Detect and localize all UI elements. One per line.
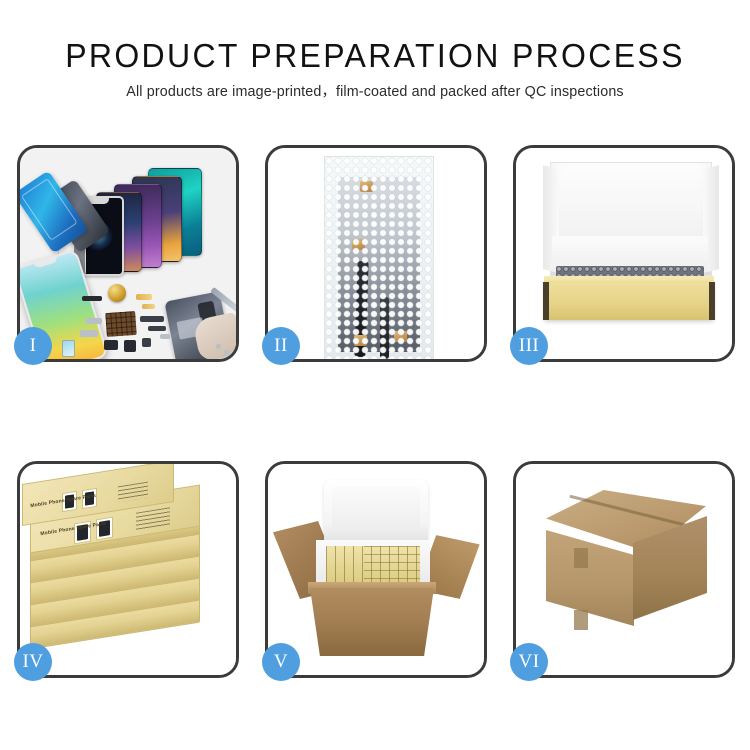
part-button-icon (142, 338, 151, 347)
stacked-boxes: Mobile Phone Spare Parts Mobile Phone Sp… (26, 482, 236, 674)
packed-kraft-boxes (326, 546, 420, 582)
step-panel-3: III (513, 145, 735, 362)
part-screw-plate-icon (160, 334, 170, 339)
step-badge-6: VI (510, 643, 548, 681)
step-panel-4: Mobile Phone Spare Parts Mobile Phone Sp… (17, 461, 239, 678)
part-camera-module-icon (104, 340, 118, 350)
step-panel-5: V (265, 461, 487, 678)
flex-cable-strip-icon (354, 261, 368, 357)
part-flex-cable-icon (140, 316, 164, 322)
part-flex-short-icon (148, 326, 166, 331)
tape-tab-lower-right-icon (394, 331, 407, 342)
product-preparation-process-page: PRODUCT PREPARATION PROCESS All products… (0, 0, 750, 750)
logic-board-chip-icon (105, 311, 137, 337)
speaker-component-icon (108, 284, 126, 302)
step-image-6 (516, 464, 732, 675)
carton-handle-tab-bottom (574, 610, 588, 630)
step-panel-2: II (265, 145, 487, 362)
process-steps-grid: I II (17, 145, 735, 678)
carton-body (310, 588, 434, 656)
step-image-4: Mobile Phone Spare Parts Mobile Phone Sp… (20, 464, 236, 675)
step-badge-2: II (262, 327, 300, 365)
part-shield-icon (80, 330, 98, 337)
step-badge-3: III (510, 327, 548, 365)
step-image-3 (516, 148, 732, 359)
page-subtitle: All products are image-printed，film-coat… (0, 83, 750, 101)
part-gold-clip-icon (142, 304, 155, 309)
part-gold-connector-icon (136, 294, 152, 300)
carton-handle-tab-top (574, 548, 588, 568)
foam-lid (324, 480, 428, 542)
flex-cable-strip-secondary-icon (380, 297, 389, 359)
tape-tab-mid-icon (352, 239, 365, 250)
wrapped-phone-part (338, 177, 420, 352)
phone-parts-illustration (20, 148, 236, 359)
carton-left-face (546, 530, 634, 626)
page-title: PRODUCT PREPARATION PROCESS (11, 36, 739, 76)
step-image-1 (20, 148, 236, 359)
step-image-5 (268, 464, 484, 675)
kraft-box-tray (544, 282, 714, 320)
step-panel-6: VI (513, 461, 735, 678)
tape-tab-lower-left-icon (354, 335, 367, 346)
part-vibrator-icon (124, 340, 136, 352)
tape-tab-top-icon (360, 181, 373, 192)
step-image-2 (268, 148, 484, 359)
header: PRODUCT PREPARATION PROCESS All products… (0, 36, 750, 101)
part-screw-b-icon (224, 350, 229, 355)
step-badge-5: V (262, 643, 300, 681)
part-antenna-icon (82, 296, 102, 301)
part-sim-tray-icon (62, 340, 75, 357)
step-badge-4: IV (14, 643, 52, 681)
step-badge-1: I (14, 327, 52, 365)
part-bracket-icon (86, 318, 102, 324)
bubble-wrap-bag (324, 156, 434, 359)
part-screw-a-icon (216, 344, 221, 349)
step-panel-1: I (17, 145, 239, 362)
